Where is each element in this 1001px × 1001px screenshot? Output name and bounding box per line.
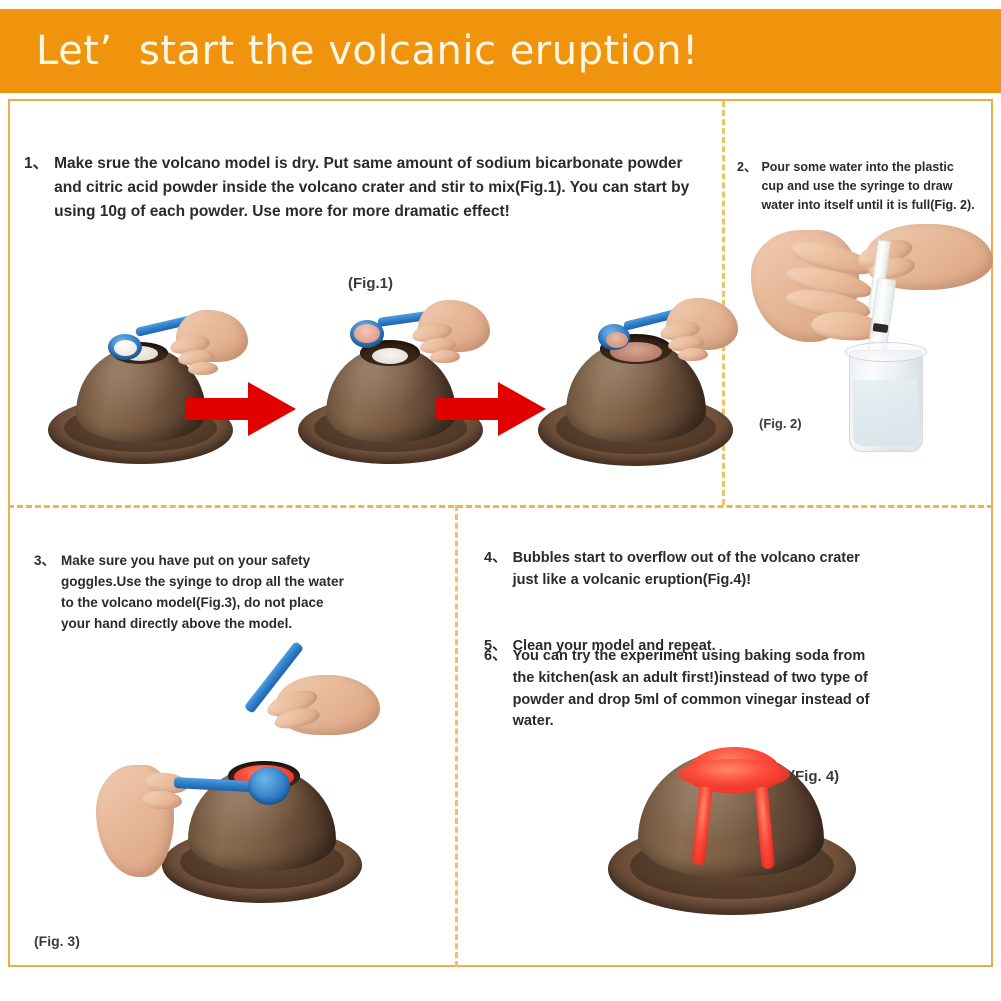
cup-water — [853, 380, 917, 446]
blue-spoon-bowl-fig3 — [248, 767, 290, 805]
step-1-text: Make srue the volcano model is dry. Put … — [54, 152, 704, 224]
step-4-number: 4、 — [484, 548, 513, 592]
step-4-text: Bubbles start to overflow out of the vol… — [513, 548, 884, 592]
lava-spill-fig4 — [678, 759, 790, 789]
finger-c-3 — [678, 347, 708, 361]
step-3-number: 3、 — [34, 551, 61, 635]
cup-rim — [845, 342, 927, 362]
step-2-text: Pour some water into the plastic cup and… — [761, 158, 977, 214]
volcano-model-c — [538, 320, 738, 470]
finger-b-3 — [430, 349, 460, 363]
divider-vertical-bottom — [455, 505, 458, 967]
step-2: 2、 Pour some water into the plastic cup … — [737, 158, 977, 214]
powder-pink-b — [354, 324, 380, 343]
figure-3-label-inner: (Fig. 3) — [34, 933, 80, 949]
step-6-number: 6、 — [484, 646, 513, 733]
arrow-right-1 — [186, 380, 298, 438]
step-2-number: 2、 — [737, 158, 761, 214]
step-6-text: You can try the experiment using baking … — [513, 646, 884, 733]
powder-on-spoon-c — [606, 332, 628, 348]
divider-horizontal — [8, 505, 993, 508]
step-4: 4、 Bubbles start to overflow out of the … — [484, 548, 884, 592]
figure-2-label-inner: (Fig. 2) — [759, 416, 802, 431]
figure-1-illustration — [40, 300, 720, 470]
page-title: Let’ start the volcanic eruption! — [0, 28, 699, 74]
powder-in-crater-b — [372, 348, 408, 364]
arrow-right-2 — [436, 380, 548, 438]
step-1: 1、 Make srue the volcano model is dry. P… — [24, 152, 704, 224]
step-3-text: Make sure you have put on your safety go… — [61, 551, 344, 635]
finger-a-3 — [188, 361, 218, 375]
figure-4-illustration — [608, 745, 908, 945]
step-1-number: 1、 — [24, 152, 54, 224]
step-3: 3、 Make sure you have put on your safety… — [34, 551, 344, 635]
powder-white-a — [114, 340, 137, 356]
instruction-sheet: Let’ start the volcanic eruption! 1、 Mak… — [0, 0, 1001, 1001]
header-banner: Let’ start the volcanic eruption! — [0, 9, 1001, 93]
figure-1-label: (Fig.1) — [348, 275, 393, 292]
figure-3-illustration: (Fig. 3) — [100, 665, 380, 915]
step-6: 6、 You can try the experiment using baki… — [484, 646, 884, 733]
figure-2-illustration: (Fig. 2) — [745, 228, 995, 458]
